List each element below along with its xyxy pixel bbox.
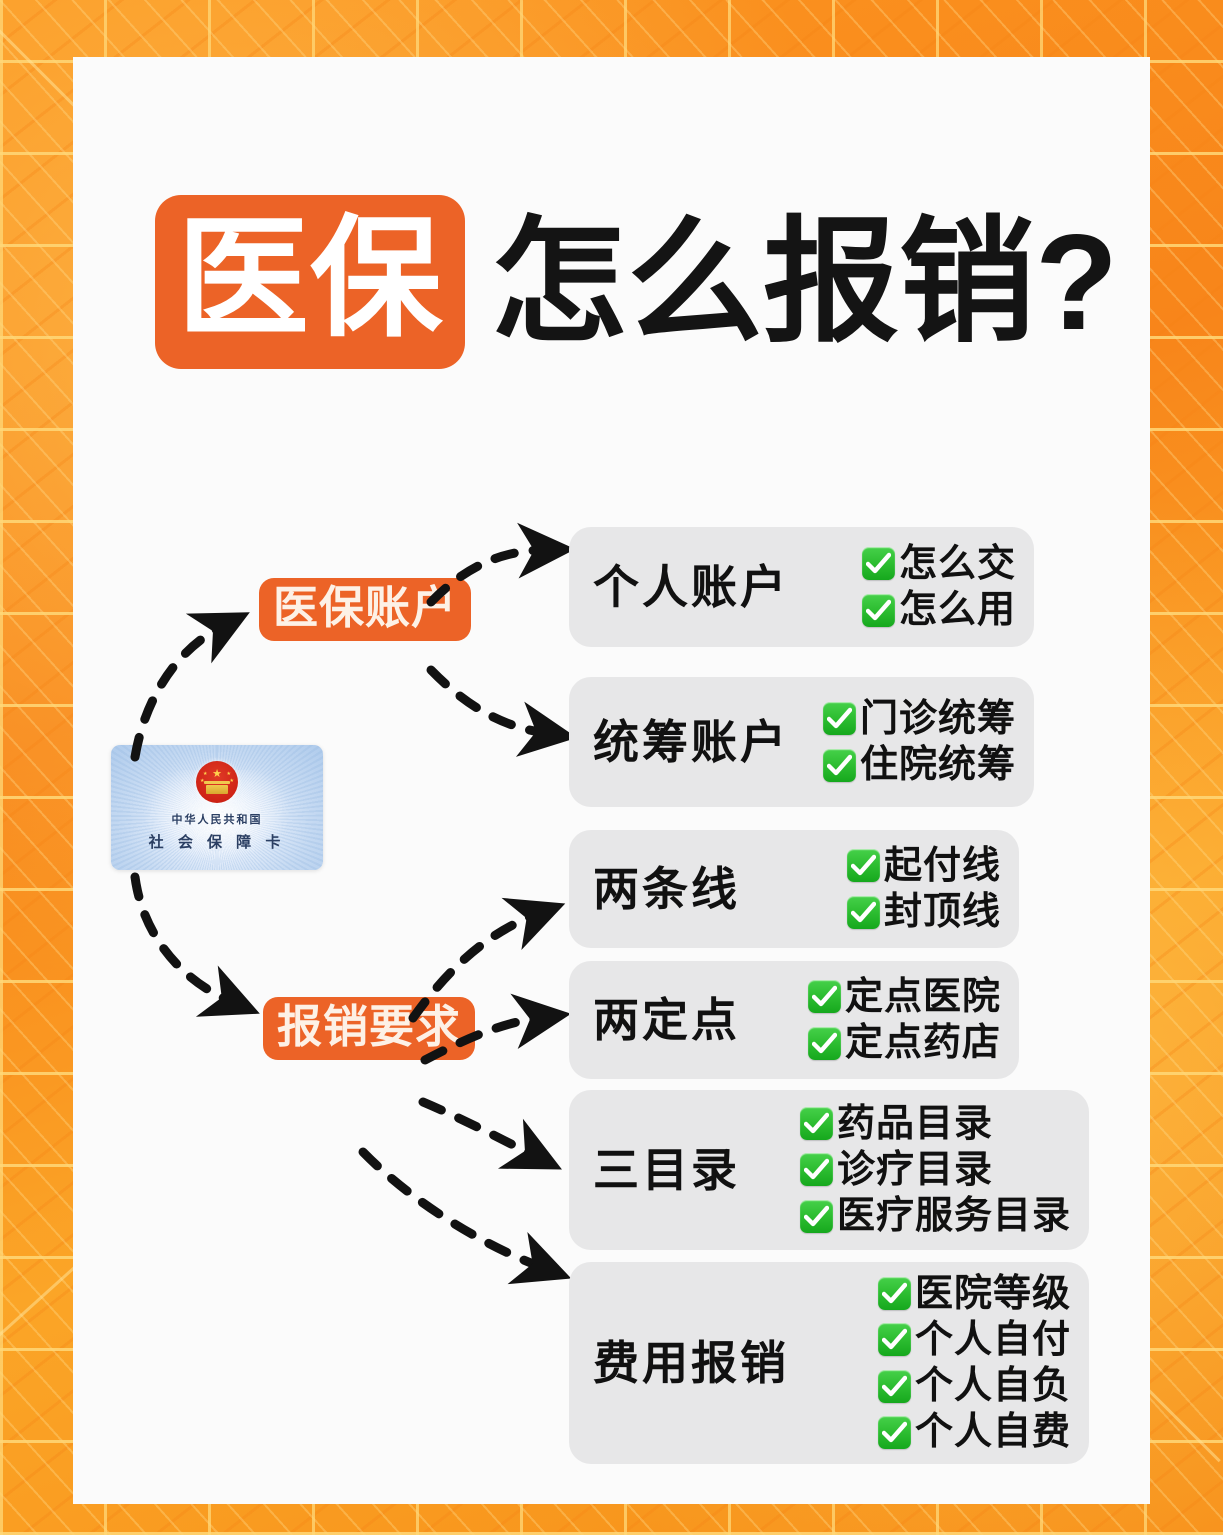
check-icon [800, 1200, 833, 1233]
list-item-label: 医院等级 [915, 1272, 1071, 1316]
info-card-title: 统筹账户 [593, 717, 789, 768]
list-item: 药品目录 [800, 1102, 1071, 1146]
emblem-small-star: ★ [227, 772, 231, 777]
info-card-items: 起付线 封顶线 [847, 844, 1001, 934]
list-item: 住院统筹 [823, 743, 1016, 787]
emblem-small-star: ★ [203, 772, 207, 777]
arrow-card-to-requirement [135, 877, 230, 1001]
list-item-label: 定点医院 [845, 975, 1001, 1019]
list-item-label: 怎么交 [899, 542, 1016, 586]
info-card[interactable]: 三目录 药品目录 诊疗目录 医疗服务目录 [569, 1090, 1089, 1250]
check-icon [847, 896, 880, 929]
check-icon [878, 1323, 911, 1356]
info-card[interactable]: 两定点 定点医院 定点药店 [569, 961, 1019, 1079]
list-item-label: 封顶线 [884, 890, 1001, 934]
check-icon [878, 1277, 911, 1310]
info-card-items: 怎么交 怎么用 [862, 542, 1016, 632]
list-item: 门诊统筹 [823, 697, 1016, 741]
list-item: 个人自负 [878, 1364, 1071, 1408]
list-item: 封顶线 [847, 890, 1001, 934]
list-item: 定点医院 [808, 975, 1001, 1019]
info-card[interactable]: 费用报销 医院等级 个人自付 个人自负 个人自费 [569, 1262, 1089, 1464]
info-card-items: 定点医院 定点药店 [808, 975, 1001, 1065]
list-item-label: 住院统筹 [860, 743, 1016, 787]
check-icon [878, 1416, 911, 1449]
national-emblem-icon: ★ ★ ★ ★ ★ [196, 761, 238, 803]
list-item-label: 怎么用 [899, 588, 1016, 632]
arrow-req-to-card5 [423, 1102, 533, 1155]
list-item: 医院等级 [878, 1272, 1071, 1316]
check-icon [808, 980, 841, 1013]
list-item: 个人自费 [878, 1410, 1071, 1454]
check-icon [800, 1153, 833, 1186]
arrow-account-to-card2 [431, 670, 545, 733]
check-icon [847, 849, 880, 882]
info-card-title: 两条线 [593, 864, 740, 915]
arrow-req-to-card6 [363, 1152, 541, 1267]
check-icon [823, 749, 856, 782]
list-item-label: 定点药店 [845, 1021, 1001, 1065]
emblem-gate [206, 785, 228, 794]
flow-label-account[interactable]: 医保账户 [259, 578, 471, 641]
check-icon [878, 1370, 911, 1403]
list-item-label: 个人自负 [915, 1364, 1071, 1408]
check-icon [823, 702, 856, 735]
card-type-label: 社 会 保 障 卡 [111, 831, 323, 852]
info-card-title: 费用报销 [593, 1338, 789, 1389]
info-card-items: 门诊统筹 住院统筹 [823, 697, 1016, 787]
check-icon [862, 594, 895, 627]
info-card-title: 个人账户 [593, 562, 789, 613]
flow-diagram: ★ ★ ★ ★ ★ 中华人民共和国 社 会 保 障 卡 医保账户 报销要求 [73, 57, 1150, 1504]
list-item-label: 门诊统筹 [860, 697, 1016, 741]
card-country-label: 中华人民共和国 [111, 811, 323, 827]
arrow-card-to-account [135, 627, 221, 757]
info-card[interactable]: 两条线 起付线 封顶线 [569, 830, 1019, 948]
list-item: 起付线 [847, 844, 1001, 888]
flow-label-requirement[interactable]: 报销要求 [263, 997, 475, 1060]
info-card-title: 三目录 [593, 1145, 740, 1196]
social-security-card: ★ ★ ★ ★ ★ 中华人民共和国 社 会 保 障 卡 [111, 745, 323, 870]
info-card-items: 药品目录 诊疗目录 医疗服务目录 [800, 1102, 1071, 1238]
info-card-items: 医院等级 个人自付 个人自负 个人自费 [878, 1272, 1071, 1454]
check-icon [800, 1107, 833, 1140]
check-icon [808, 1027, 841, 1060]
list-item-label: 个人自付 [915, 1318, 1071, 1362]
check-icon [862, 547, 895, 580]
list-item-label: 个人自费 [915, 1410, 1071, 1454]
list-item: 医疗服务目录 [800, 1194, 1071, 1238]
list-item: 怎么用 [862, 588, 1016, 632]
list-item: 定点药店 [808, 1021, 1001, 1065]
info-card[interactable]: 个人账户 怎么交 怎么用 [569, 527, 1034, 647]
list-item-label: 诊疗目录 [837, 1148, 993, 1192]
list-item: 个人自付 [878, 1318, 1071, 1362]
emblem-small-star: ★ [230, 779, 234, 784]
info-card[interactable]: 统筹账户 门诊统筹 住院统筹 [569, 677, 1034, 807]
list-item-label: 药品目录 [837, 1102, 993, 1146]
info-card-title: 两定点 [593, 995, 740, 1046]
list-item-label: 医疗服务目录 [837, 1194, 1071, 1238]
emblem-big-star: ★ [212, 769, 222, 780]
list-item: 怎么交 [862, 542, 1016, 586]
list-item: 诊疗目录 [800, 1148, 1071, 1192]
list-item-label: 起付线 [884, 844, 1001, 888]
content-panel: 医保 怎么报销? ★ ★ ★ ★ ★ 中华人民共和国 社 会 保 障 卡 医保账… [73, 57, 1150, 1504]
